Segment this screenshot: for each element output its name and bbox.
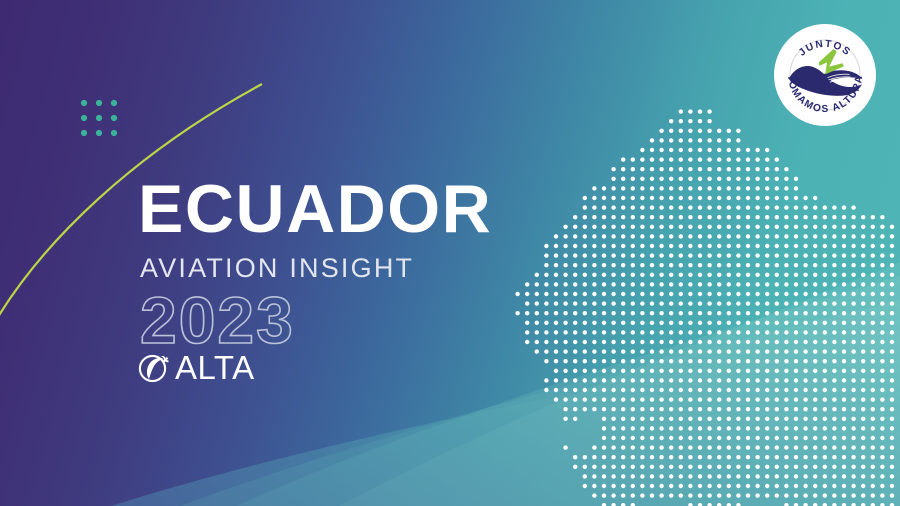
alta-logo: ALTA bbox=[136, 349, 255, 385]
year-outline-svg: 2023 bbox=[138, 286, 458, 356]
title-block: ECUADOR AVIATION INSIGHT 2023 bbox=[138, 176, 492, 352]
page-title: ECUADOR bbox=[138, 176, 492, 243]
year-outline-wrap: 2023 bbox=[138, 286, 492, 352]
page-subtitle: AVIATION INSIGHT bbox=[140, 255, 492, 282]
year-label: 2023 bbox=[140, 286, 295, 356]
juntos-tomamos-altura-badge: JUNTOS TOMAMOS ALTURA bbox=[772, 22, 878, 128]
alta-wordmark: ALTA bbox=[175, 351, 255, 384]
report-cover: ECUADOR AVIATION INSIGHT 2023 ALTA bbox=[0, 0, 900, 506]
alta-globe-swoosh-icon bbox=[136, 349, 172, 385]
